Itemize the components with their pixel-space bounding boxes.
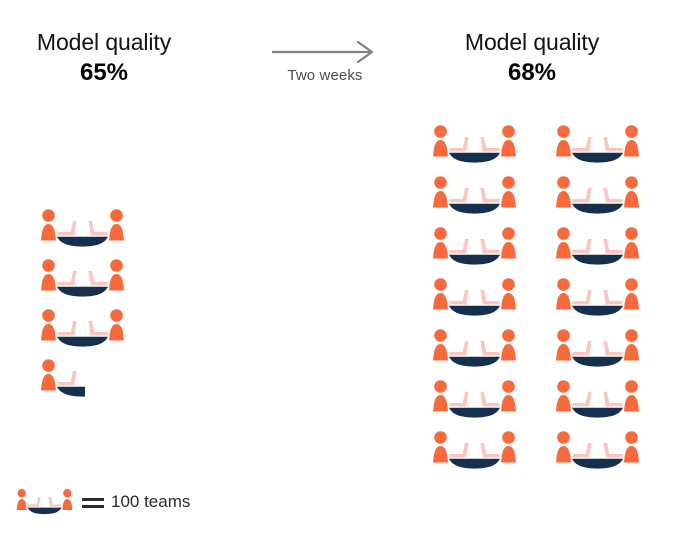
rowing-team-icon bbox=[555, 226, 640, 267]
rowing-team-icon bbox=[555, 124, 640, 165]
right-panel-title: Model quality bbox=[432, 28, 632, 56]
rowing-team-icon bbox=[432, 277, 517, 318]
right-panel-value: 68% bbox=[432, 58, 632, 87]
rowing-team-icon bbox=[16, 488, 73, 516]
equals-sign bbox=[82, 495, 104, 509]
rowing-team-icon bbox=[555, 379, 640, 420]
right-panel-heading: Model quality 68% bbox=[432, 28, 632, 87]
rowing-team-icon bbox=[40, 258, 125, 299]
pictogram-row bbox=[432, 277, 640, 318]
transition-annotation: Two weeks bbox=[255, 40, 395, 84]
pictogram-row bbox=[432, 124, 640, 165]
pictogram-row bbox=[432, 175, 640, 216]
rowing-team-icon bbox=[432, 175, 517, 216]
pictogram-row bbox=[40, 358, 125, 399]
pictogram-row bbox=[40, 258, 125, 299]
left-panel-value: 65% bbox=[6, 58, 202, 87]
pictogram-row bbox=[432, 379, 640, 420]
pictogram-row bbox=[432, 430, 640, 471]
rowing-team-icon bbox=[432, 430, 517, 471]
pictogram-row bbox=[432, 226, 640, 267]
pictogram-row bbox=[432, 328, 640, 369]
pictogram-group-left bbox=[40, 208, 125, 408]
rowing-team-icon bbox=[432, 328, 517, 369]
left-panel-title: Model quality bbox=[6, 28, 202, 56]
pictogram-row bbox=[40, 308, 125, 349]
rowing-team-icon bbox=[555, 328, 640, 369]
transition-caption: Two weeks bbox=[255, 67, 395, 84]
rowing-team-icon bbox=[40, 208, 125, 249]
rowing-team-icon bbox=[40, 308, 125, 349]
rowing-team-icon-partial bbox=[40, 358, 85, 399]
rowing-team-icon bbox=[555, 277, 640, 318]
rowing-team-icon bbox=[555, 430, 640, 471]
legend: 100 teams bbox=[16, 488, 190, 516]
pictogram-group-right bbox=[432, 124, 640, 481]
legend-label: 100 teams bbox=[111, 492, 190, 512]
arrow-right-icon bbox=[255, 40, 395, 66]
left-panel-heading: Model quality 65% bbox=[6, 28, 202, 87]
rowing-team-icon bbox=[432, 124, 517, 165]
rowing-team-icon bbox=[555, 175, 640, 216]
pictogram-row bbox=[40, 208, 125, 249]
rowing-team-icon bbox=[432, 379, 517, 420]
rowing-team-icon bbox=[432, 226, 517, 267]
